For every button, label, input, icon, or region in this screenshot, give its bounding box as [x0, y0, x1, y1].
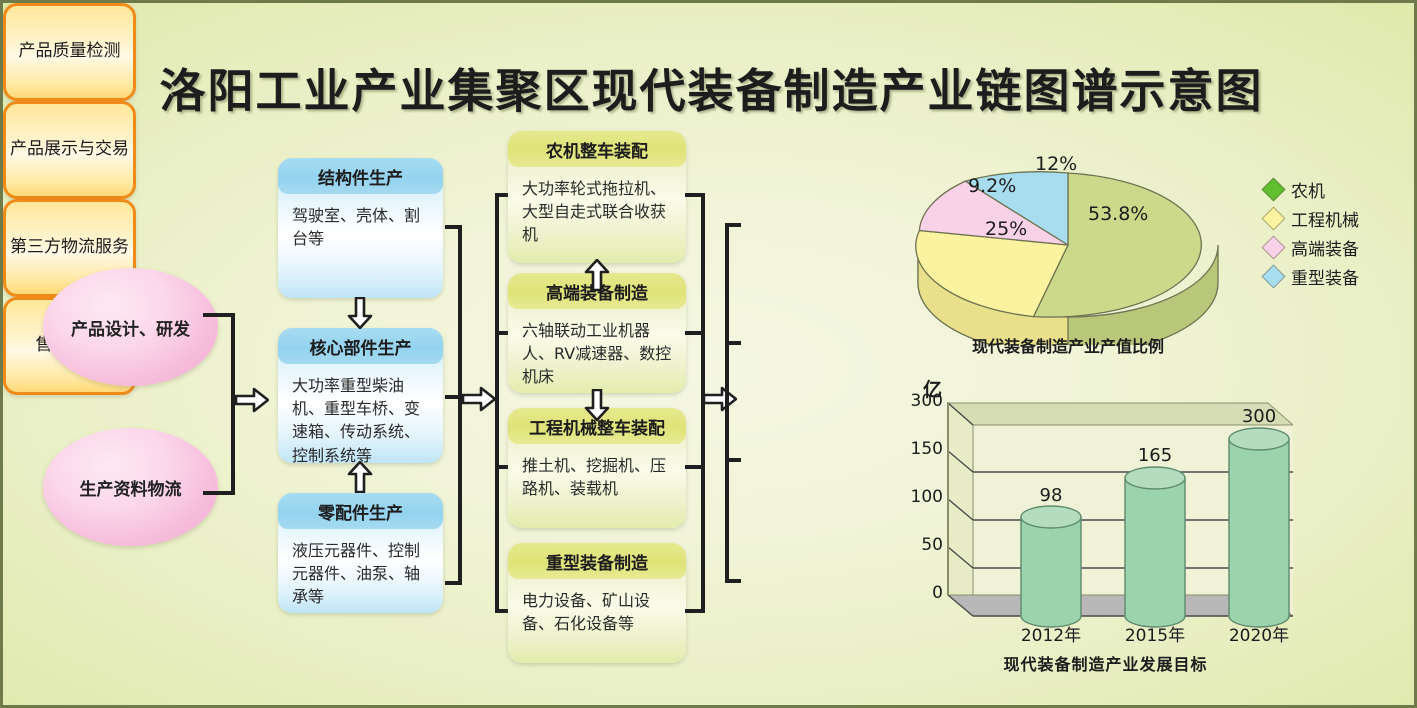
y-tick-0: 0 — [893, 583, 943, 603]
legend-item-gaoduan[interactable]: 高端装备 — [1265, 233, 1415, 262]
card-header: 重型装备制造 — [508, 543, 686, 579]
flow-arrow-right-icon — [235, 387, 269, 413]
connector-line — [445, 225, 462, 229]
pie-value-label-zhongxing: 12% — [1035, 153, 1077, 175]
input-node-label: 生产资料物流 — [80, 475, 182, 500]
card-header: 结构件生产 — [278, 158, 443, 194]
connector-line — [685, 331, 705, 335]
connector-line — [725, 223, 741, 227]
infographic-canvas: 洛阳工业产业集聚区现代装备制造产业链图谱示意图 产品设计、研发 生产资料物流 结… — [0, 0, 1417, 708]
card-body: 电力设备、矿山设备、石化设备等 — [508, 579, 686, 645]
pie-chart-svg — [888, 145, 1248, 345]
legend-label: 重型装备 — [1291, 264, 1359, 289]
y-tick-300: 300 — [893, 391, 943, 411]
bar-chart-caption: 现代装备制造产业发展目标 — [918, 651, 1293, 675]
page-title: 洛阳工业产业集聚区现代装备制造产业链图谱示意图 — [3, 55, 1417, 121]
flow-arrow-up-icon — [347, 461, 373, 493]
connector-line — [725, 341, 741, 345]
card-body: 液压元器件、控制元器件、油泵、轴承等 — [278, 529, 443, 613]
pie-value-label-gaoduan: 9.2% — [968, 175, 1016, 197]
y-tick-150: 150 — [893, 439, 943, 459]
flow-arrow-down-icon — [584, 389, 610, 421]
assembly-card-heavy-equipment[interactable]: 重型装备制造 电力设备、矿山设备、石化设备等 — [508, 543, 686, 663]
diamond-marker-icon — [1261, 177, 1285, 201]
card-body: 六轴联动工业机器人、RV减速器、数控机床 — [508, 309, 686, 393]
service-card-label: 第三方物流服务 — [10, 235, 129, 261]
card-body: 大功率轮式拖拉机、大型自走式联合收获机 — [508, 167, 686, 257]
bar-value-2015: 165 — [1125, 445, 1185, 466]
legend-item-gongcheng[interactable]: 工程机械 — [1265, 204, 1415, 233]
pie-chart: 53.8% 25% 9.2% 12% — [888, 145, 1248, 345]
component-card-core-parts[interactable]: 核心部件生产 大功率重型柴油机、重型车桥、变速箱、传动系统、控制系统等 — [278, 328, 443, 463]
input-node-material-logistics[interactable]: 生产资料物流 — [43, 428, 218, 546]
diamond-marker-icon — [1261, 206, 1285, 230]
x-tick-2015: 2015年 — [1110, 621, 1200, 646]
pie-value-label-nongji: 53.8% — [1088, 203, 1148, 225]
bar-cylinder-2012 — [1021, 506, 1081, 627]
connector-line — [685, 193, 705, 197]
legend-label: 高端装备 — [1291, 235, 1359, 260]
connector-line — [203, 313, 235, 317]
legend-item-zhongxing[interactable]: 重型装备 — [1265, 262, 1415, 291]
connector-line — [203, 491, 235, 495]
diamond-marker-icon — [1261, 235, 1285, 259]
bar-value-2020: 300 — [1229, 406, 1289, 427]
diamond-marker-icon — [1261, 264, 1285, 288]
assembly-card-agricultural-machinery[interactable]: 农机整车装配 大功率轮式拖拉机、大型自走式联合收获机 — [508, 131, 686, 263]
flow-arrow-down-icon — [347, 297, 373, 329]
flow-arrow-up-icon — [584, 259, 610, 291]
card-body: 大功率重型柴油机、重型车桥、变速箱、传动系统、控制系统等 — [278, 364, 443, 463]
card-body: 推土机、挖掘机、压路机、装载机 — [508, 444, 686, 510]
legend-item-nongji[interactable]: 农机 — [1265, 175, 1415, 204]
bar-cylinder-2020 — [1229, 428, 1289, 627]
input-node-label: 产品设计、研发 — [71, 315, 190, 340]
pie-legend: 农机 工程机械 高端装备 重型装备 — [1265, 175, 1415, 291]
connector-line — [725, 458, 741, 462]
bar-cylinder-2015 — [1125, 467, 1185, 627]
x-tick-2012: 2012年 — [1006, 621, 1096, 646]
connector-line — [445, 395, 462, 399]
y-tick-50: 50 — [893, 535, 943, 555]
component-card-structural[interactable]: 结构件生产 驾驶室、壳体、割台等 — [278, 158, 443, 298]
connector-line — [685, 609, 705, 613]
flow-arrow-right-icon — [703, 386, 737, 412]
legend-label: 工程机械 — [1291, 206, 1359, 231]
service-card-label: 产品展示与交易 — [10, 137, 129, 163]
card-header: 零配件生产 — [278, 493, 443, 529]
pie-chart-caption: 现代装备制造产业产值比例 — [888, 333, 1248, 357]
connector-line — [725, 223, 729, 583]
bar-value-2012: 98 — [1021, 485, 1081, 506]
assembly-card-construction-machinery[interactable]: 工程机械整车装配 推土机、挖掘机、压路机、装载机 — [508, 408, 686, 528]
assembly-card-high-end-equipment[interactable]: 高端装备制造 六轴联动工业机器人、RV减速器、数控机床 — [508, 273, 686, 393]
card-header: 核心部件生产 — [278, 328, 443, 364]
connector-line — [685, 465, 705, 469]
legend-label: 农机 — [1291, 177, 1325, 202]
connector-line — [445, 581, 462, 585]
card-header: 农机整车装配 — [508, 131, 686, 167]
card-body: 驾驶室、壳体、割台等 — [278, 194, 443, 260]
pie-value-label-gongcheng: 25% — [985, 218, 1027, 240]
connector-line — [725, 579, 741, 583]
bar-chart: 300 150 100 50 0 98 165 300 2012年 2015年 … — [918, 373, 1293, 643]
flow-arrow-right-icon — [462, 386, 496, 412]
component-card-spare-parts[interactable]: 零配件生产 液压元器件、控制元器件、油泵、轴承等 — [278, 493, 443, 613]
x-tick-2020: 2020年 — [1214, 621, 1304, 646]
connector-line — [495, 193, 499, 613]
input-node-product-design[interactable]: 产品设计、研发 — [43, 268, 218, 386]
y-tick-100: 100 — [893, 487, 943, 507]
